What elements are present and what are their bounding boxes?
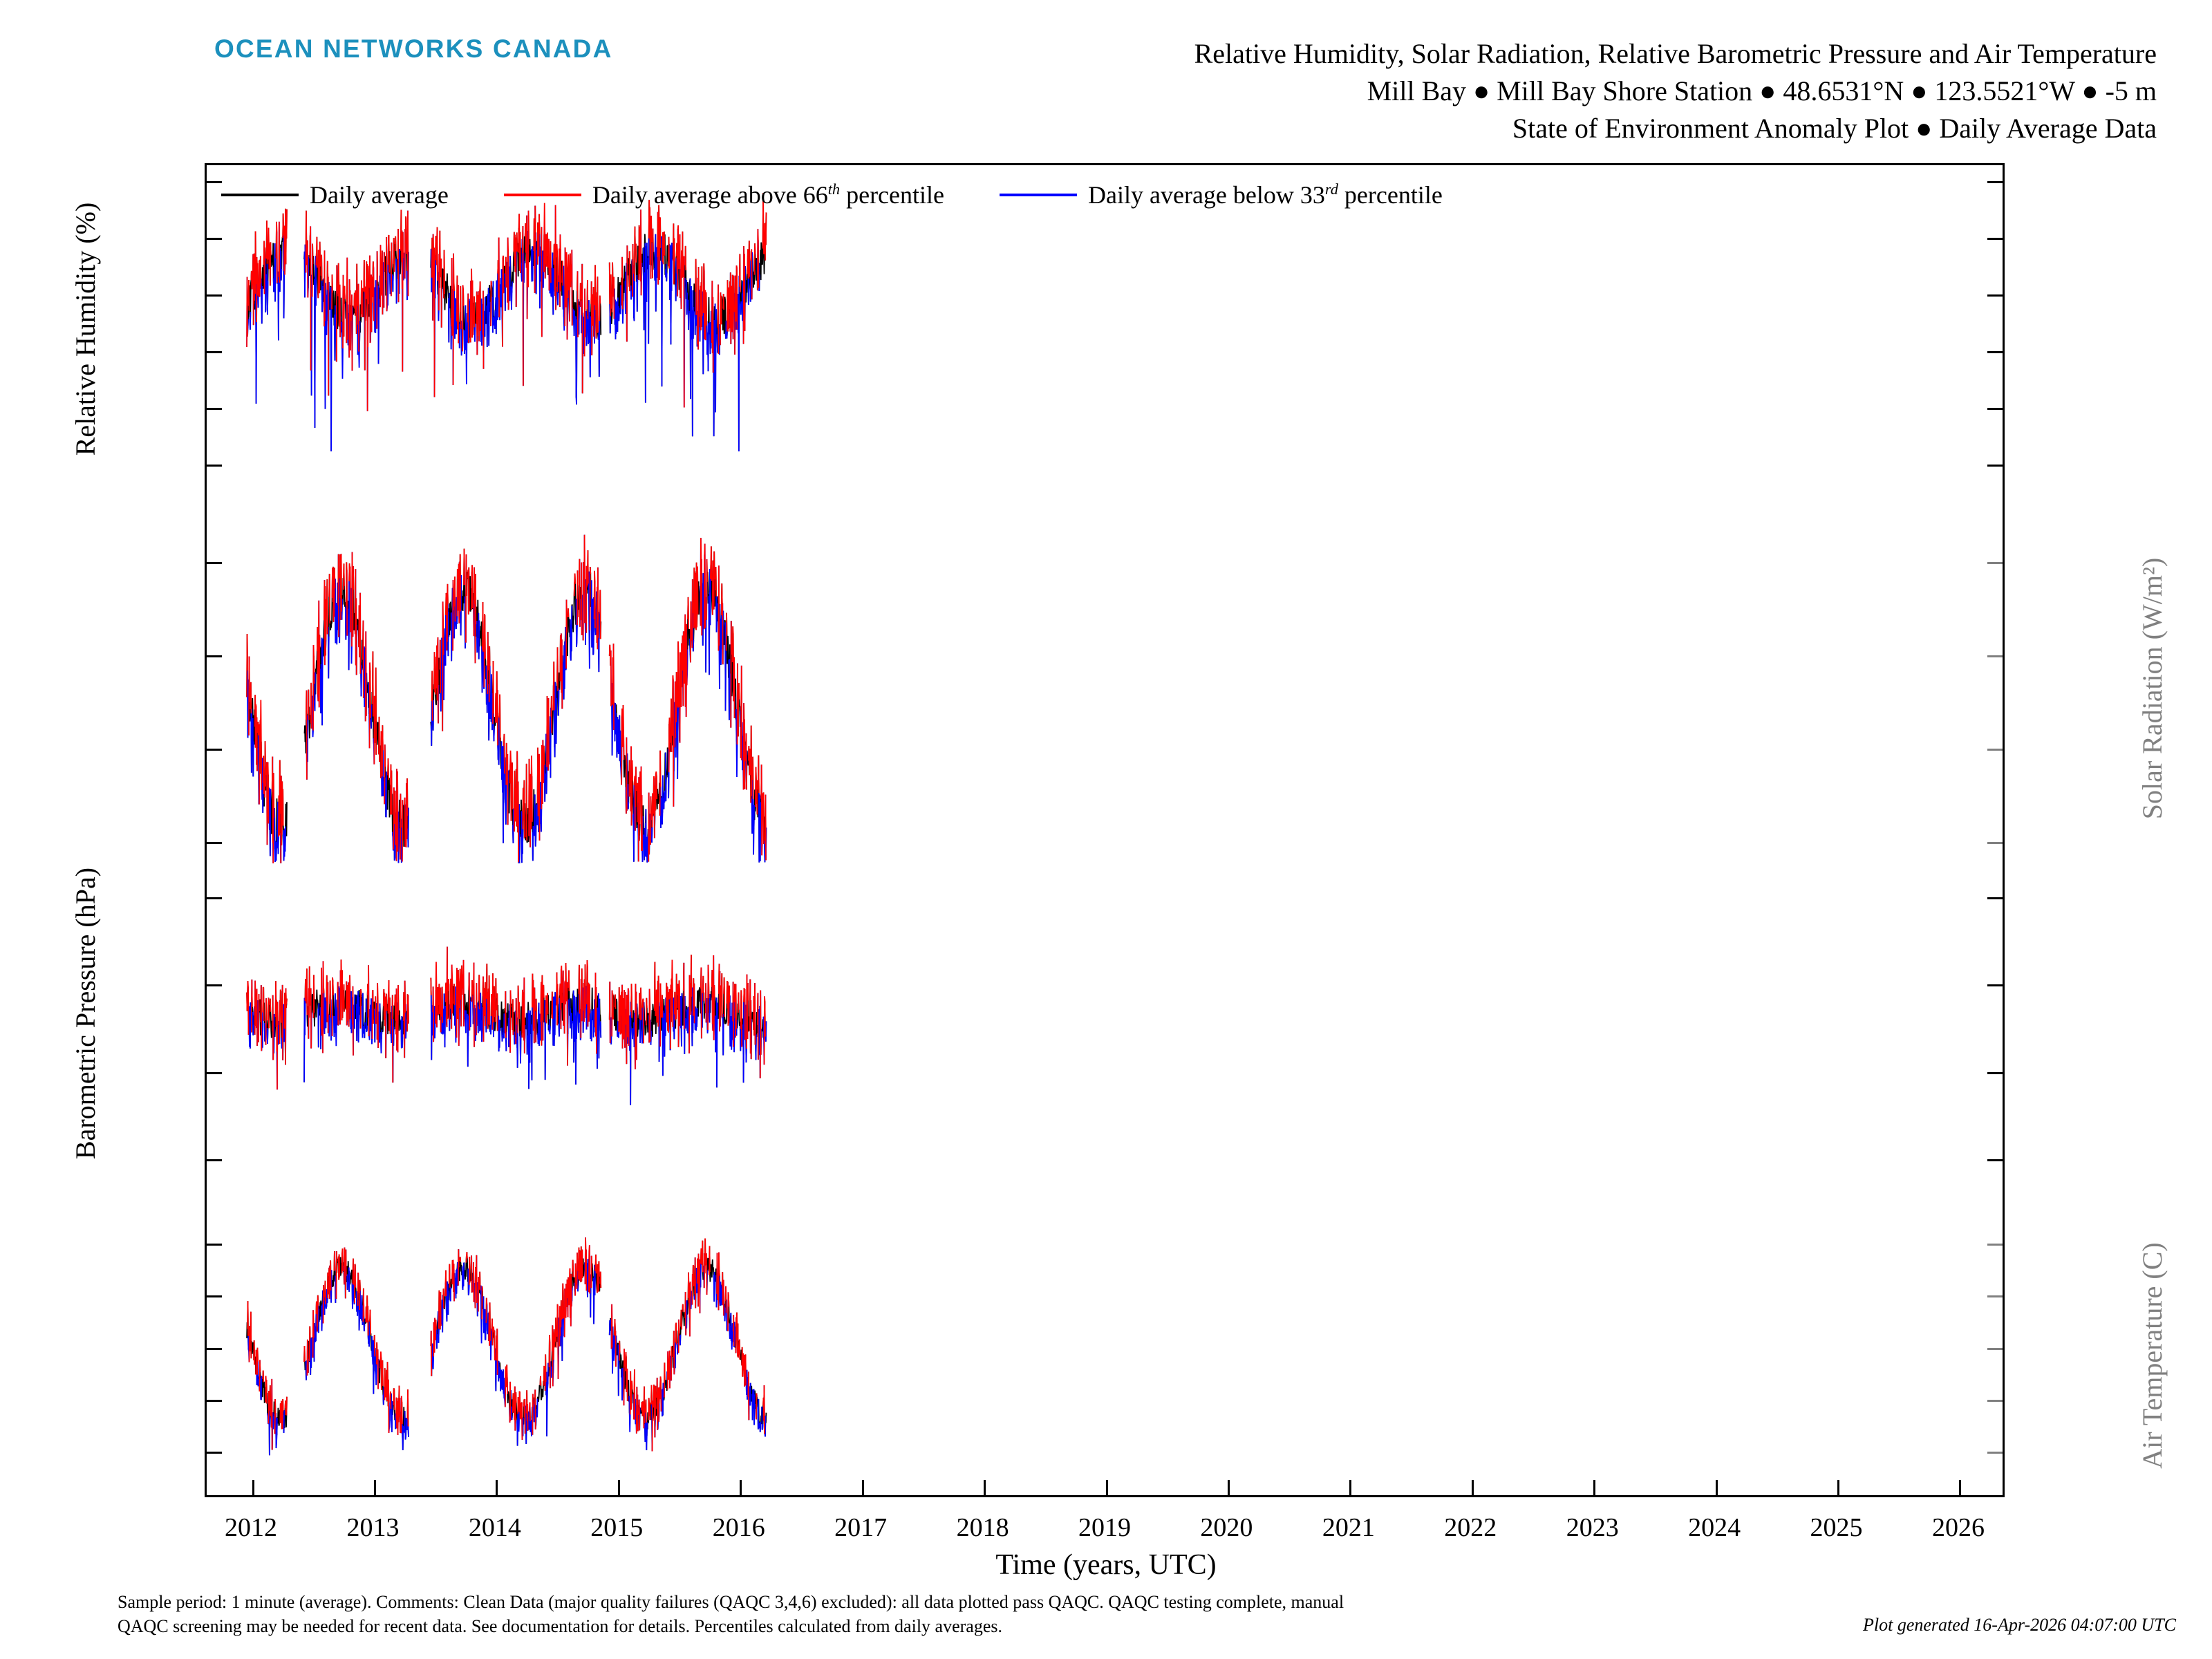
x-tick-2021: [1349, 1480, 1351, 1495]
plot-subtitle-location: Mill Bay ● Mill Bay Shore Station ● 48.6…: [1367, 76, 2157, 106]
x-tick-2024: [1716, 1480, 1718, 1495]
legend-label-2: Daily average below 33rd percentile: [1088, 180, 1443, 209]
axis-title-relative-humidity: Relative Humidity (%): [69, 203, 102, 456]
footer-note: Sample period: 1 minute (average). Comme…: [118, 1590, 1777, 1638]
x-tick-2023: [1593, 1480, 1595, 1495]
x-axis-title: Time (years, UTC): [0, 1548, 2212, 1582]
legend-label-0: Daily average: [310, 180, 449, 209]
axis-title-air-temperature: Air Temperature (C): [2136, 1242, 2168, 1468]
x-tick-2026: [1959, 1480, 1961, 1495]
x-tick-label-2022: 2022: [1415, 1512, 1526, 1543]
legend-swatch-2: [1000, 194, 1077, 196]
x-tick-2015: [618, 1480, 620, 1495]
x-tick-2022: [1472, 1480, 1474, 1495]
footer-line-1: Sample period: 1 minute (average). Comme…: [118, 1590, 1777, 1614]
legend: Daily averageDaily average above 66th pe…: [221, 181, 1498, 209]
legend-swatch-0: [221, 194, 299, 196]
legend-label-1: Daily average above 66th percentile: [592, 180, 944, 209]
plot-subtitle-type: State of Environment Anomaly Plot ● Dail…: [1512, 113, 2157, 143]
x-tick-label-2020: 2020: [1171, 1512, 1282, 1543]
x-tick-label-2023: 2023: [1537, 1512, 1648, 1543]
x-tick-label-2024: 2024: [1659, 1512, 1770, 1543]
legend-item-1: Daily average above 66th percentile: [504, 180, 1000, 209]
x-tick-label-2013: 2013: [317, 1512, 428, 1543]
x-tick-2017: [862, 1480, 864, 1495]
x-tick-label-2025: 2025: [1781, 1512, 1892, 1543]
x-tick-label-2018: 2018: [928, 1512, 1038, 1543]
x-tick-label-2017: 2017: [805, 1512, 916, 1543]
axis-title-barometric-pressure: Barometric Pressure (hPa): [69, 868, 102, 1159]
x-tick-label-2012: 2012: [196, 1512, 306, 1543]
x-tick-label-2014: 2014: [440, 1512, 550, 1543]
x-tick-label-2015: 2015: [561, 1512, 672, 1543]
x-tick-2012: [252, 1480, 254, 1495]
x-tick-2020: [1228, 1480, 1230, 1495]
onc-logo: OCEAN NETWORKS CANADA: [214, 35, 613, 64]
x-tick-2018: [984, 1480, 986, 1495]
footer-line-2: QAQC screening may be needed for recent …: [118, 1614, 1777, 1638]
x-tick-2016: [740, 1480, 742, 1495]
axis-title-solar-radiation: Solar Radiation (W/m²): [2136, 558, 2168, 820]
legend-item-0: Daily average: [221, 180, 504, 209]
legend-item-2: Daily average below 33rd percentile: [1000, 180, 1498, 209]
x-tick-2013: [374, 1480, 376, 1495]
legend-swatch-1: [504, 194, 581, 196]
x-tick-label-2026: 2026: [1903, 1512, 2014, 1543]
x-tick-2025: [1837, 1480, 1839, 1495]
x-tick-label-2019: 2019: [1049, 1512, 1160, 1543]
x-tick-2019: [1106, 1480, 1108, 1495]
x-tick-label-2021: 2021: [1293, 1512, 1404, 1543]
x-tick-2014: [496, 1480, 498, 1495]
plot-title: Relative Humidity, Solar Radiation, Rela…: [1194, 39, 2157, 68]
plot-generated-timestamp: Plot generated 16-Apr-2026 04:07:00 UTC: [1863, 1615, 2176, 1635]
plot-frame: 5060708090100010020030098010001020104005…: [205, 163, 2005, 1497]
x-tick-label-2016: 2016: [684, 1512, 794, 1543]
